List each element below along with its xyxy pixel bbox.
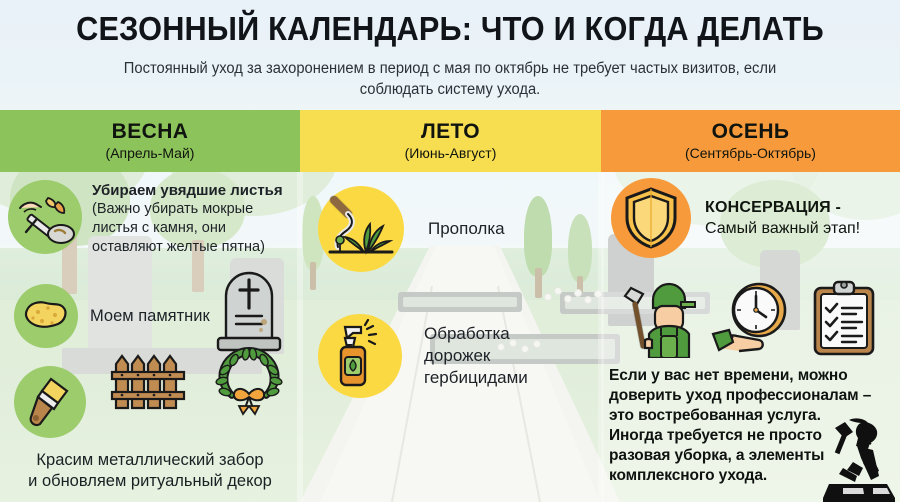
- page-title: СЕЗОННЫЙ КАЛЕНДАРЬ: ЧТО И КОГДА ДЕЛАТЬ: [32, 10, 869, 48]
- summer-item-2-line2: дорожек: [424, 345, 528, 367]
- shield-icon: [611, 178, 691, 258]
- season-bar-summer[interactable]: ЛЕТО (Июнь-Август): [300, 110, 601, 172]
- spring-item-1-note-line1: (Важно убирать мокрые: [92, 200, 292, 219]
- column-summer: Прополка: [300, 172, 601, 502]
- hand-holding-clock-icon: [711, 278, 797, 363]
- autumn-icons-row: [609, 278, 881, 363]
- stonemason-hammer-chisel-icon: [813, 418, 899, 502]
- autumn-item-1[interactable]: КОНСЕРВАЦИЯ - Самый важный этап!: [611, 178, 900, 258]
- spring-item-1[interactable]: Убираем увядшие листья (Важно убирать мо…: [8, 180, 300, 257]
- summer-item-1[interactable]: Прополка: [318, 186, 598, 272]
- autumn-headline: КОНСЕРВАЦИЯ -: [705, 197, 885, 218]
- autumn-para-line-6: комплексного ухода.: [609, 467, 767, 484]
- spring-item-2[interactable]: Моем памятник: [14, 284, 300, 348]
- column-autumn: КОНСЕРВАЦИЯ - Самый важный этап!: [601, 172, 900, 502]
- spring-item-3-caption: Красим металлический забор и обновляем р…: [0, 450, 300, 492]
- autumn-item-1-text: КОНСЕРВАЦИЯ - Самый важный этап!: [705, 197, 885, 239]
- spring-item-3[interactable]: [14, 366, 300, 438]
- poster-header: СЕЗОННЫЙ КАЛЕНДАРЬ: ЧТО И КОГДА ДЕЛАТЬ П…: [0, 0, 900, 110]
- page-subtitle: Постоянный уход за захоронением в период…: [108, 58, 792, 100]
- season-name-spring: ВЕСНА: [112, 120, 189, 143]
- autumn-para-line-1: Если у вас нет времени, можно: [609, 367, 848, 384]
- autumn-headline-note: Самый важный этап!: [705, 218, 885, 239]
- rake-leaves-icon: [8, 180, 82, 254]
- infographic-poster: СЕЗОННЫЙ КАЛЕНДАРЬ: ЧТО И КОГДА ДЕЛАТЬ П…: [0, 0, 900, 502]
- autumn-para-line-2: доверить уход профессионалам –: [609, 387, 871, 404]
- spray-bottle-icon: [318, 314, 402, 398]
- picket-fence-icon: [110, 348, 186, 417]
- paintbrush-icon: [14, 366, 86, 438]
- clipboard-checklist-icon: [807, 278, 881, 363]
- spring-caption-line2: и обновляем ритуальный декор: [28, 472, 272, 490]
- season-months-summer: (Июнь-Август): [405, 144, 497, 162]
- spring-caption-line1: Красим металлический забор: [36, 451, 263, 469]
- season-bar-autumn[interactable]: ОСЕНЬ (Сентябрь-Октябрь): [601, 110, 900, 172]
- worker-with-shovel-icon: [609, 278, 701, 363]
- spring-item-1-text: Убираем увядшие листья (Важно убирать мо…: [92, 182, 292, 257]
- summer-item-2-line3: гербицидами: [424, 367, 528, 389]
- season-bar-spring[interactable]: ВЕСНА (Апрель-Май): [0, 110, 300, 172]
- autumn-para-line-4: Иногда требуется не просто: [609, 427, 822, 444]
- autumn-para-line-5: разовая уборка, а элементы: [609, 447, 824, 464]
- column-spring: Убираем увядшие листья (Важно убирать мо…: [0, 172, 300, 502]
- weeding-hoe-grass-icon: [318, 186, 404, 272]
- season-header-bars: ВЕСНА (Апрель-Май) ЛЕТО (Июнь-Август) ОС…: [0, 110, 900, 172]
- spring-item-1-note-line2: листья с камня, они: [92, 219, 292, 238]
- season-months-autumn: (Сентябрь-Октябрь): [685, 144, 816, 162]
- season-name-summer: ЛЕТО: [421, 120, 480, 143]
- summer-item-2-line1: Обработка: [424, 323, 528, 345]
- autumn-para-line-3: это востребованная услуга.: [609, 407, 821, 424]
- season-name-autumn: ОСЕНЬ: [712, 120, 790, 143]
- summer-item-2[interactable]: Обработка дорожек гербицидами: [318, 314, 598, 398]
- spring-item-1-note-line3: оставляют желтые пятна): [92, 238, 292, 257]
- season-months-spring: (Апрель-Май): [106, 144, 195, 162]
- sponge-icon: [14, 284, 78, 348]
- summer-item-1-label: Прополка: [428, 218, 505, 240]
- season-columns: Убираем увядшие листья (Важно убирать мо…: [0, 172, 900, 502]
- spring-item-1-headline: Убираем увядшие листья: [92, 182, 292, 200]
- summer-item-2-text: Обработка дорожек гербицидами: [424, 323, 528, 389]
- laurel-wreath-bow-icon: [208, 344, 290, 423]
- spring-item-2-label: Моем памятник: [90, 306, 210, 327]
